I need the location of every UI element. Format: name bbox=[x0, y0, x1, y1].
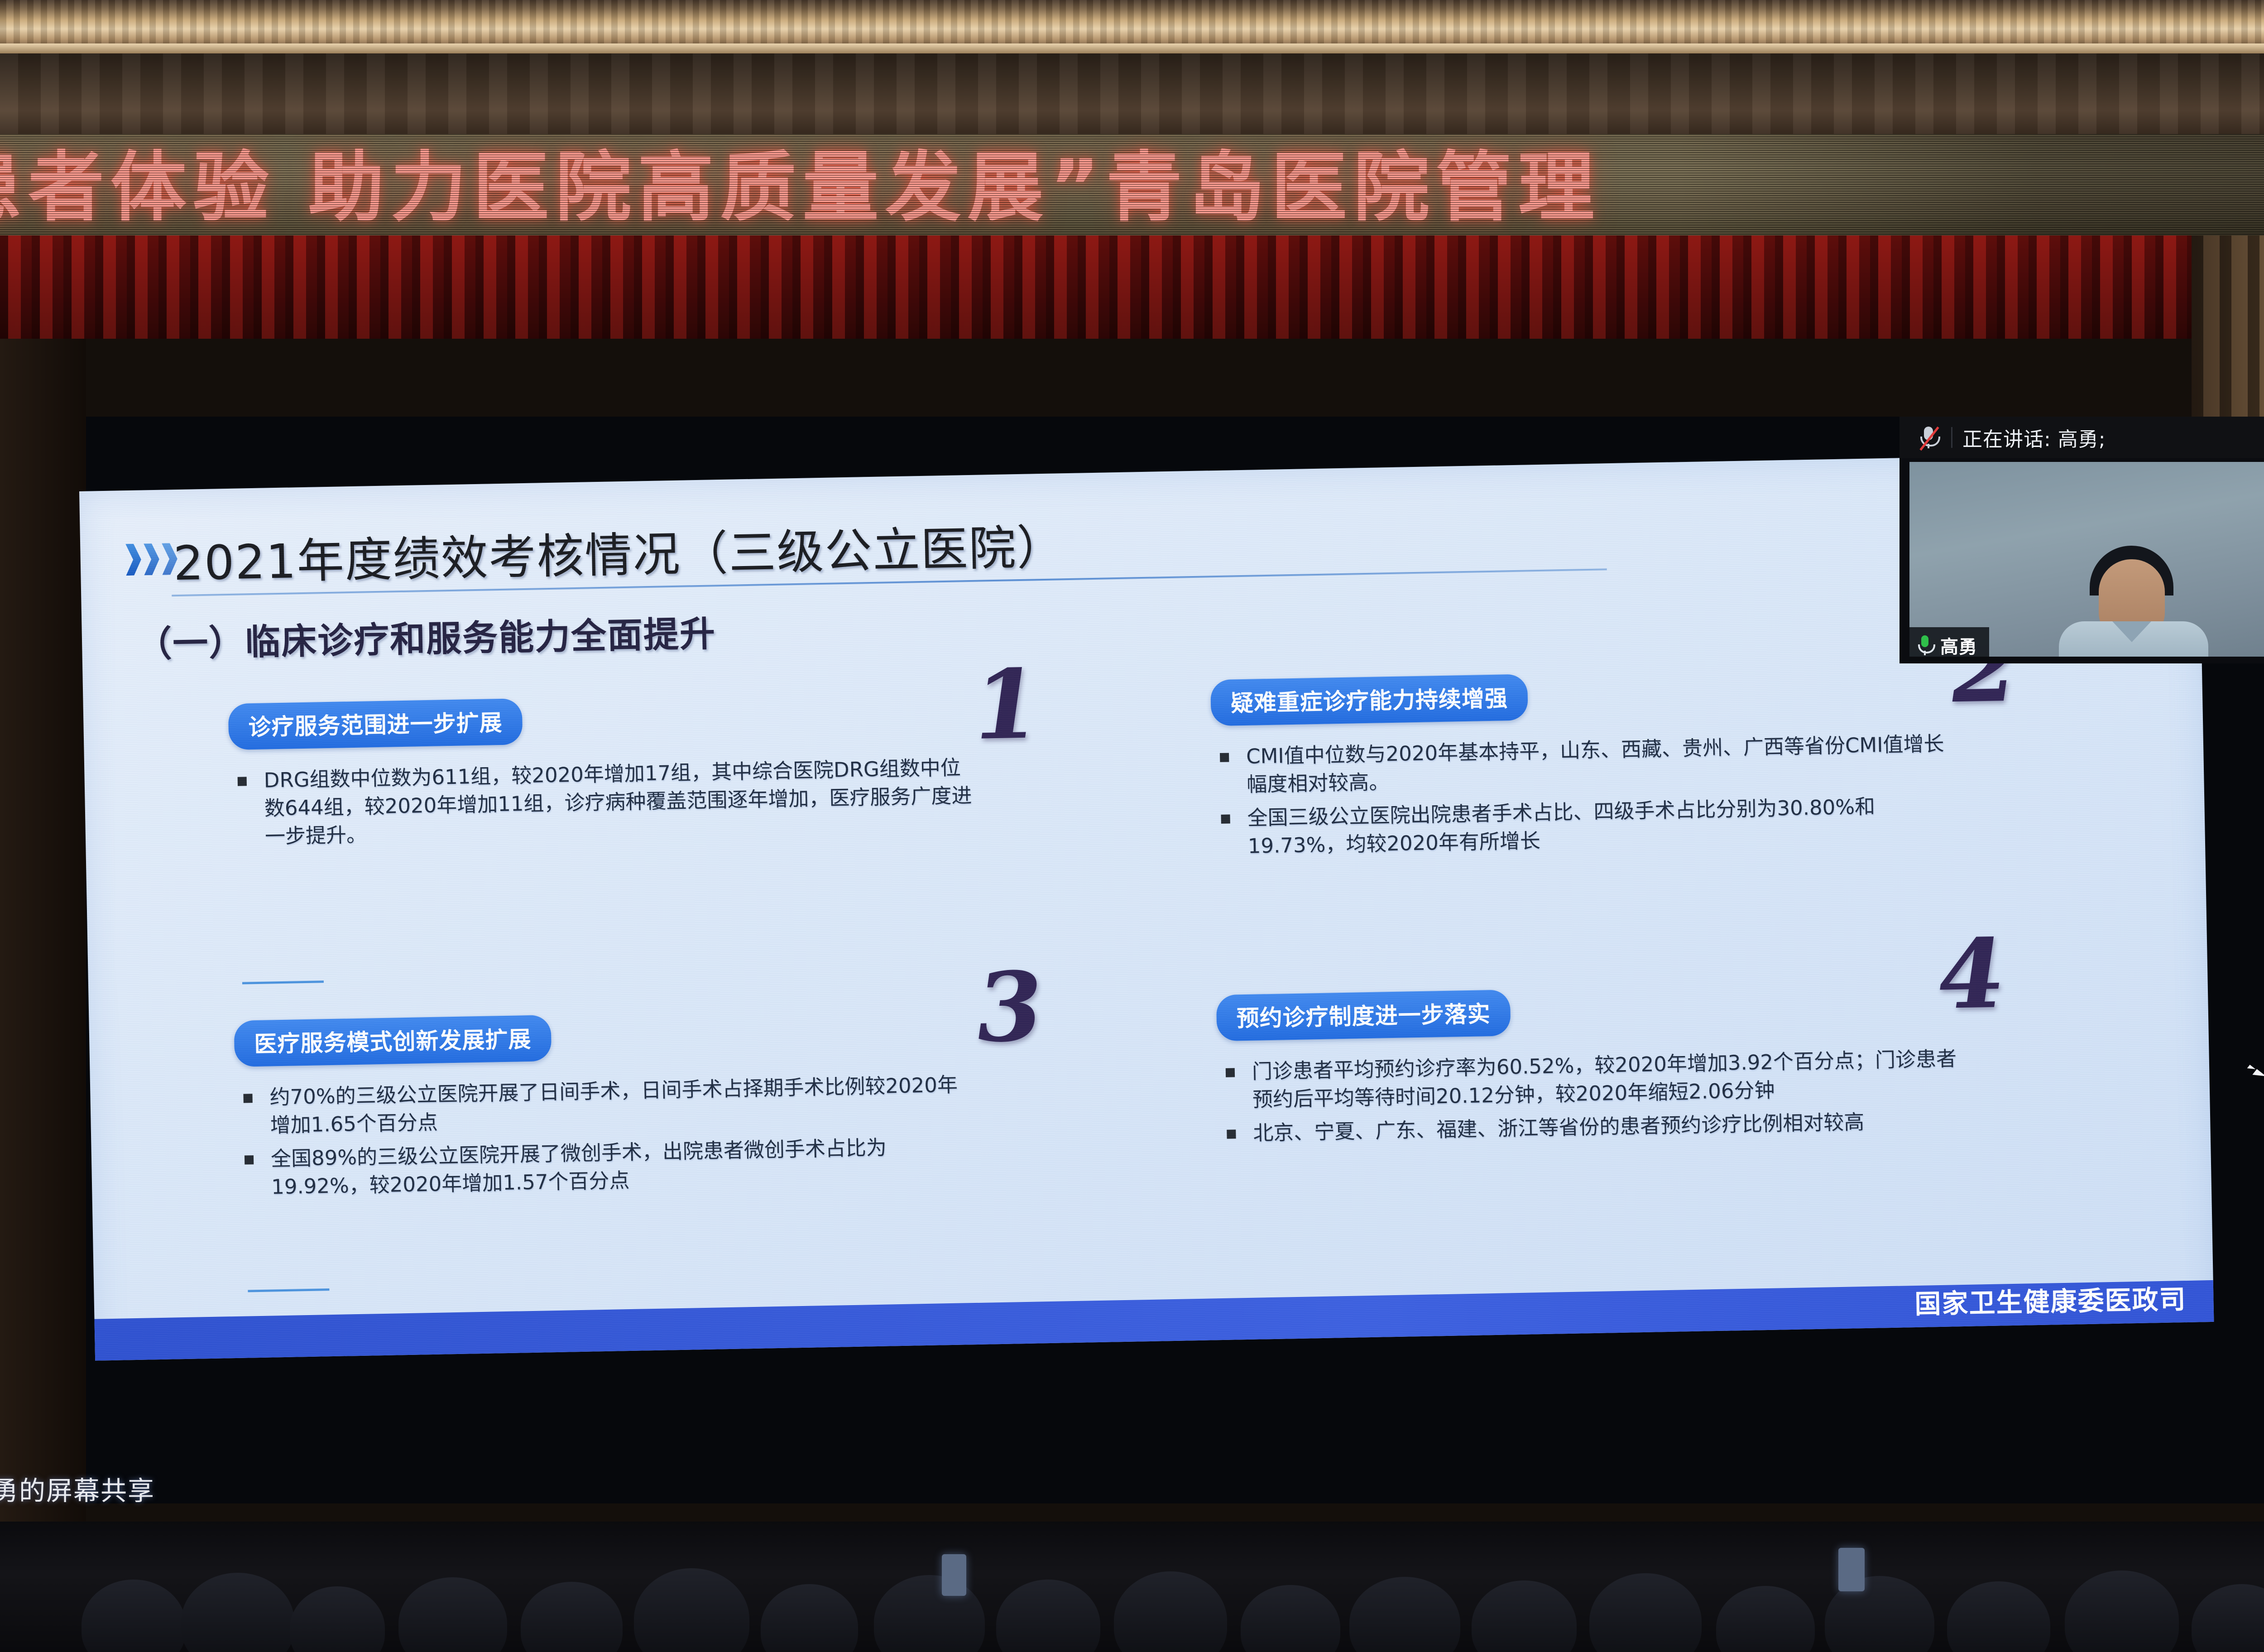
quadrant-1-underline bbox=[242, 980, 324, 984]
list-item: 北京、宁夏、广东、福建、浙江等省份的患者预约诊疗比例相对较高 bbox=[1218, 1106, 1971, 1148]
stage-curtain bbox=[0, 235, 2264, 340]
list-item: 全国三级公立医院出院患者手术占比、四级手术占比分别为30.80%和19.73%，… bbox=[1213, 791, 1965, 861]
ceiling-panel bbox=[0, 53, 2264, 135]
pip-divider bbox=[1951, 427, 1952, 448]
quadrant-3-bullets: 约70%的三级公立医院开展了日间手术，日间手术占择期手术比例较2020年增加1.… bbox=[235, 1071, 979, 1202]
slide-footer-label: 国家卫生健康委医政司 bbox=[1914, 1278, 2187, 1321]
active-speaker-label: 正在讲话: 高勇; bbox=[1962, 423, 2106, 452]
microphone-muted-icon[interactable] bbox=[1916, 424, 1941, 451]
quadrant-2-bullets: CMI值中位数与2020年基本持平，山东、西藏、贵州、广西等省份CMI值增长幅度… bbox=[1212, 730, 1965, 861]
section-heading: （一）临床诊疗和服务能力全面提升 bbox=[136, 605, 716, 667]
participant-name-chip: 高勇 bbox=[1909, 627, 1989, 663]
list-item: 门诊患者平均预约诊疗率为60.52%，较2020年增加3.92个百分点；门诊患者… bbox=[1217, 1045, 1970, 1114]
audience-silhouettes bbox=[0, 1522, 2264, 1652]
screenshot-root: 患者体验 助力医院高质量发展”青岛医院管理 2021年度绩效考核情况（三级公立医… bbox=[0, 0, 2264, 1652]
quadrant-3-underline bbox=[248, 1288, 329, 1292]
list-item: CMI值中位数与2020年基本持平，山东、西藏、贵州、广西等省份CMI值增长幅度… bbox=[1212, 730, 1964, 799]
quadrant-3: 医疗服务模式创新发展扩展 约70%的三级公立医院开展了日间手术，日间手术占择期手… bbox=[234, 1007, 979, 1207]
video-pip-panel[interactable]: 正在讲话: 高勇; 高勇 bbox=[1899, 417, 2264, 663]
led-banner-text: 患者体验 助力医院高质量发展”青岛医院管理 bbox=[0, 142, 1601, 233]
quadrant-4-bullets: 门诊患者平均预约诊疗率为60.52%，较2020年增加3.92个百分点；门诊患者… bbox=[1217, 1045, 1970, 1148]
screen-share-caption: 勇的屏幕共享 bbox=[0, 1470, 155, 1508]
list-item: DRG组数中位数为611组，较2020年增加17组，其中综合医院DRG组数中位数… bbox=[229, 754, 973, 851]
triple-chevron-right-icon bbox=[125, 543, 177, 576]
quadrant-1-bullets: DRG组数中位数为611组，较2020年增加17组，其中综合医院DRG组数中位数… bbox=[229, 754, 973, 851]
ceiling-slats bbox=[0, 0, 2264, 50]
quadrant-4-badge: 预约诊疗制度进一步落实 bbox=[1216, 989, 1511, 1041]
quadrant-1-number: 1 bbox=[966, 657, 1046, 753]
quadrant-1-badge: 诊疗服务范围进一步扩展 bbox=[228, 698, 523, 750]
quadrant-3-number: 3 bbox=[970, 959, 1050, 1056]
quadrant-3-badge: 医疗服务模式创新发展扩展 bbox=[234, 1015, 552, 1067]
quadrant-2-badge: 疑难重症诊疗能力持续增强 bbox=[1210, 674, 1528, 726]
wall-left-edge bbox=[0, 339, 86, 1561]
quadrant-4: 预约诊疗制度进一步落实 门诊患者平均预约诊疗率为60.52%，较2020年增加3… bbox=[1216, 981, 1971, 1153]
list-item: 全国89%的三级公立医院开展了微创手术，出院患者微创手术占比为19.92%，较2… bbox=[236, 1132, 980, 1202]
microphone-on-icon bbox=[1916, 634, 1934, 657]
banner-shadow bbox=[1675, 134, 2264, 239]
quadrant-1: 诊疗服务范围进一步扩展 DRG组数中位数为611组，较2020年增加17组，其中… bbox=[228, 690, 974, 857]
list-item: 约70%的三级公立医院开展了日间手术，日间手术占择期手术比例较2020年增加1.… bbox=[235, 1071, 979, 1140]
quadrant-2: 疑难重症诊疗能力持续增强 CMI值中位数与2020年基本持平，山东、西藏、贵州、… bbox=[1210, 666, 1965, 866]
presentation-slide: 2021年度绩效考核情况（三级公立医院） （一）临床诊疗和服务能力全面提升 诊疗… bbox=[79, 452, 2214, 1360]
quadrant-4-number: 4 bbox=[1932, 926, 2011, 1023]
pip-top-bar: 正在讲话: 高勇; bbox=[1899, 417, 2264, 458]
participant-name-label: 高勇 bbox=[1940, 632, 1977, 658]
